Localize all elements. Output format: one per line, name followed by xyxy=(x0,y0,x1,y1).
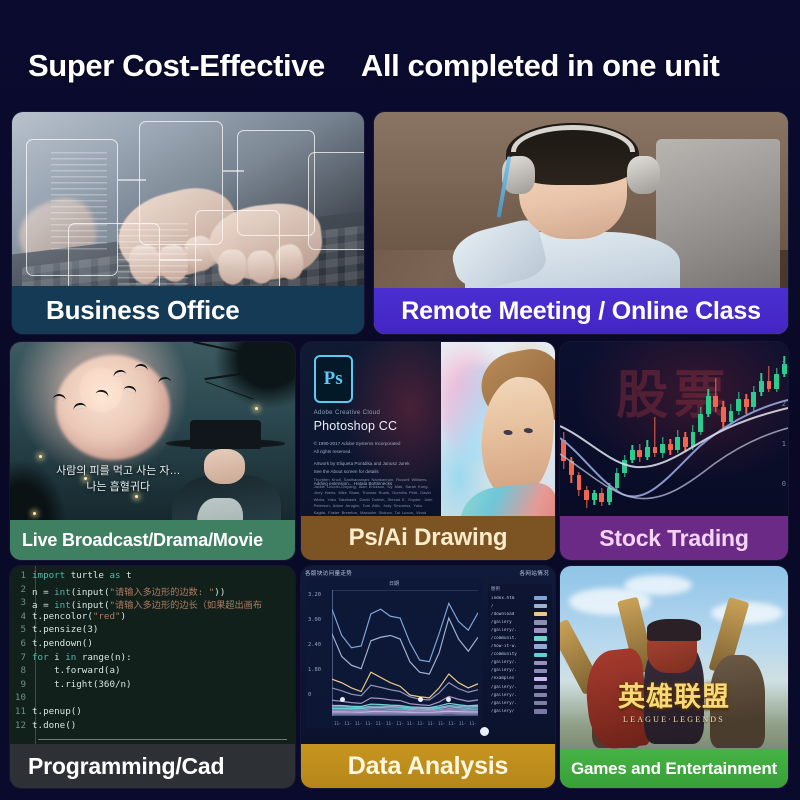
ui-connector xyxy=(223,170,244,172)
product-title: Photoshop CC xyxy=(314,419,398,433)
series-lines xyxy=(332,590,478,716)
legend-item[interactable]: /gallery/. xyxy=(488,691,552,699)
y-tick-label: 2.40 xyxy=(308,642,321,648)
ui-overlay-panel xyxy=(308,152,364,250)
legend-swatch xyxy=(534,636,547,640)
caption-live-broadcast: Live Broadcast/Drama/Movie xyxy=(10,520,295,560)
caption-label: Remote Meeting / Online Class xyxy=(401,297,761,326)
legend-swatch xyxy=(534,677,547,681)
dashboard-header-right: 各网站情况 xyxy=(520,569,549,577)
card-ps-ai-drawing[interactable]: Ps Adobe Creative Cloud Photoshop CC © 1… xyxy=(301,342,555,560)
code-line[interactable]: 12t.done() xyxy=(10,720,295,734)
x-tick-label: 11- xyxy=(417,721,425,726)
series-line xyxy=(332,618,478,674)
moving-average-lines xyxy=(560,342,788,522)
y-tick-label: 3.00 xyxy=(308,617,321,623)
line-number: 9 xyxy=(10,679,32,690)
x-tick-label: 11- xyxy=(386,721,394,726)
legend-item[interactable]: /gallery xyxy=(488,618,552,626)
copyright-line-2: All rights reserved. xyxy=(314,448,434,456)
headline-cost-effective: Super Cost-Effective xyxy=(28,48,325,84)
line-number: 6 xyxy=(10,638,32,649)
line-number: 4 xyxy=(10,611,32,622)
code-line[interactable]: 6t.pendown() xyxy=(10,638,295,652)
x-tick-label: 11- xyxy=(438,721,446,726)
headphone-cup-right xyxy=(627,156,660,194)
code-line[interactable]: 5t.pensize(3) xyxy=(10,624,295,638)
legend-label: /community xyxy=(491,652,531,657)
caption-stock-trading: Stock Trading xyxy=(560,516,788,560)
price-tick: 3 xyxy=(782,360,786,368)
artwork-line-1: Artwork by Eliqueta Pontdika and Janusz … xyxy=(314,460,434,468)
caption-business-office: Business Office xyxy=(12,286,364,334)
legend-item[interactable]: /gallery/. xyxy=(488,699,552,707)
legend-label: /examples xyxy=(491,676,531,681)
legend-item[interactable]: /gallery/. xyxy=(488,659,552,667)
legend-label: /communit. xyxy=(491,636,531,641)
ui-connector xyxy=(118,179,146,181)
legend-label: /gallery xyxy=(491,620,531,625)
price-tick: 0 xyxy=(782,480,786,488)
line-number: 3 xyxy=(10,597,32,608)
code-text: t.pendown() xyxy=(32,638,93,649)
photoshop-icon: Ps xyxy=(314,355,353,403)
legend-items: index.htm//download/gallery/gallery/./co… xyxy=(488,594,552,715)
y-tick-label: 0 xyxy=(308,692,311,698)
legend-swatch xyxy=(534,693,547,697)
firefly xyxy=(33,512,36,515)
legend-swatch xyxy=(534,701,547,705)
caption-label: Programming/Cad xyxy=(28,753,224,780)
legend-label: /gallery/. xyxy=(491,668,531,673)
promo-page: Super Cost-Effective All completed in on… xyxy=(0,0,800,800)
code-text: n = int(input("请输入多边形的边数: ")) xyxy=(32,584,225,598)
caption-label: Data Analysis xyxy=(348,752,508,781)
legend-item[interactable]: /communit. xyxy=(488,634,552,642)
y-tick-label: 3.20 xyxy=(308,592,321,598)
caption-label: Stock Trading xyxy=(599,525,748,552)
caption-label: Business Office xyxy=(46,295,240,326)
legend-label: /gallery/. xyxy=(491,660,531,665)
legend-item[interactable]: index.htm xyxy=(488,594,552,602)
x-tick-label: 11- xyxy=(334,721,342,726)
code-line[interactable]: 9 t.right(360/n) xyxy=(10,679,295,693)
chart-title: 日期 xyxy=(306,580,482,587)
logo-chinese: 英雄联盟 xyxy=(618,675,730,714)
data-point-marker xyxy=(418,697,423,702)
caption-programming: Programming/Cad xyxy=(10,744,295,788)
price-tick: 1 xyxy=(782,440,786,448)
line-number: 5 xyxy=(10,624,32,635)
caption-remote-meeting: Remote Meeting / Online Class xyxy=(374,288,788,334)
hero-hat xyxy=(647,619,702,641)
chart-legend: 图例 index.htm//download/gallery/gallery/.… xyxy=(488,584,552,726)
code-line[interactable]: 8 t.forward(a) xyxy=(10,665,295,679)
caption-label: Games and Entertainment xyxy=(571,759,777,779)
x-tick-label: 11- xyxy=(469,721,477,726)
legend-swatch xyxy=(534,685,547,689)
current-line-underline xyxy=(38,739,287,740)
line-number: 10 xyxy=(10,692,32,703)
legend-item[interactable]: /gallery/. xyxy=(488,667,552,675)
x-tick-label: 11- xyxy=(448,721,456,726)
legend-swatch xyxy=(534,620,547,624)
artwork-line-2: See the About screen for details xyxy=(314,468,434,476)
legend-item[interactable]: /gallery/. xyxy=(488,626,552,634)
card-programming[interactable]: 1import turtle as t2n = int(input("请输入多边… xyxy=(10,566,295,788)
legend-label: /gallery/. xyxy=(491,701,531,706)
card-business-office[interactable]: Business Office xyxy=(12,112,364,334)
legend-item[interactable]: / xyxy=(488,602,552,610)
legend-swatch xyxy=(534,596,547,600)
x-tick-label: 11- xyxy=(376,721,384,726)
legend-swatch xyxy=(534,709,547,713)
code-text: a = int(input("请输入多边形的边长（如果超出画布 xyxy=(32,597,262,611)
x-tick-label: 11- xyxy=(344,721,352,726)
caption-label: Ps/Ai Drawing xyxy=(349,524,508,552)
price-tick: 2 xyxy=(782,400,786,408)
game-logo: 英雄联盟 LEAGUE·LEGENDS xyxy=(585,670,763,728)
legend-item[interactable]: /download xyxy=(488,610,552,618)
line-chart: 日期 3.203.002.401.800 11-11-11-11-11-11-1… xyxy=(306,578,482,728)
legend-label: / xyxy=(491,604,531,609)
legend-swatch xyxy=(534,644,547,648)
character-face xyxy=(204,449,245,484)
scroll-dot xyxy=(480,727,489,736)
legend-label: /gallery/. xyxy=(491,685,531,690)
data-point-marker xyxy=(446,697,451,702)
code-overlay xyxy=(51,152,107,254)
line-number: 11 xyxy=(10,706,32,717)
gat-hat xyxy=(190,420,261,449)
card-games[interactable]: 英雄联盟 LEAGUE·LEGENDS Games and Entertainm… xyxy=(560,566,788,788)
line-number: 2 xyxy=(10,584,32,595)
code-text: t.penup() xyxy=(32,706,82,717)
card-stock-trading[interactable]: 股票 3210 1.9036 VOL:103K MA5:2.4K MA10:39… xyxy=(560,342,788,560)
x-tick-label: 11- xyxy=(396,721,404,726)
code-text: t.pensize(3) xyxy=(32,624,98,635)
caption-games: Games and Entertainment xyxy=(560,750,788,788)
x-tick-label: 11- xyxy=(355,721,363,726)
headline-one-unit: All completed in one unit xyxy=(361,48,720,84)
caption-data-analysis: Data Analysis xyxy=(301,744,555,788)
code-text: t.forward(a) xyxy=(32,665,121,676)
legend-title: 图例 xyxy=(491,586,552,592)
code-line[interactable]: 11t.penup() xyxy=(10,706,295,720)
legend-swatch xyxy=(534,604,547,608)
code-lines[interactable]: 1import turtle as t2n = int(input("请输入多边… xyxy=(10,570,295,742)
copyright-line-1: © 1990-2017 Adobe Systems Incorporated xyxy=(314,440,434,448)
y-tick-label: 1.80 xyxy=(308,667,321,673)
card-data-analysis[interactable]: 各版块访问量走势 各网站情况 日期 3.203.002.401.800 11-1… xyxy=(301,566,555,788)
cloud xyxy=(624,575,692,595)
code-text: import turtle as t xyxy=(32,570,132,581)
legend-label: /gallery/. xyxy=(491,628,531,633)
legend-item[interactable]: /gallery/. xyxy=(488,683,552,691)
code-line[interactable]: 3a = int(input("请输入多边形的边长（如果超出画布 xyxy=(10,597,295,611)
code-line[interactable]: 1import turtle as t xyxy=(10,570,295,584)
caption-ps-ai: Ps/Ai Drawing xyxy=(301,516,555,560)
x-tick-label: 11- xyxy=(428,721,436,726)
creative-cloud-label: Adobe Creative Cloud xyxy=(314,410,381,416)
caption-label: Live Broadcast/Drama/Movie xyxy=(22,530,263,551)
x-tick-label: 11- xyxy=(407,721,415,726)
line-number: 8 xyxy=(10,665,32,676)
legend-item[interactable]: /community xyxy=(488,651,552,659)
code-text: t.pencolor("red") xyxy=(32,611,126,622)
dashboard-header-left: 各版块访问量走势 xyxy=(305,569,352,577)
legend-swatch xyxy=(534,612,547,616)
legend-item[interactable]: /gallery/ xyxy=(488,707,552,715)
legend-swatch xyxy=(534,653,547,657)
subtitle-text: 사람의 피를 먹고 사는 자… 나는 흡혈귀다 xyxy=(27,464,209,496)
legend-swatch xyxy=(534,628,547,632)
subtitle-line-2: 나는 흡혈귀다 xyxy=(27,480,209,496)
line-number: 7 xyxy=(10,652,32,663)
legend-item[interactable]: /how-it-w. xyxy=(488,643,552,651)
code-text: t.done() xyxy=(32,720,76,731)
legend-label: /how-it-w. xyxy=(491,644,531,649)
legend-label: /gallery/. xyxy=(491,693,531,698)
card-live-broadcast[interactable]: 사람의 피를 먹고 사는 자… 나는 흡혈귀다 Live Broadcast/D… xyxy=(10,342,295,560)
legend-label: /gallery/ xyxy=(491,709,531,714)
line-number: 1 xyxy=(10,570,32,581)
subtitle-line-1: 사람의 피를 먹고 사는 자… xyxy=(27,464,209,480)
code-line[interactable]: 7for i in range(n): xyxy=(10,652,295,666)
legend-swatch xyxy=(534,669,547,673)
code-line[interactable]: 4t.pencolor("red") xyxy=(10,611,295,625)
line-number: 12 xyxy=(10,720,32,731)
card-remote-meeting[interactable]: Remote Meeting / Online Class xyxy=(374,112,788,334)
legend-label: index.htm xyxy=(491,596,531,601)
legend-item[interactable]: /examples xyxy=(488,675,552,683)
x-tick-label: 11- xyxy=(459,721,467,726)
legend-swatch xyxy=(534,661,547,665)
headline-row: Super Cost-Effective All completed in on… xyxy=(0,38,800,94)
code-line[interactable]: 10 xyxy=(10,692,295,706)
code-line[interactable]: 2n = int(input("请输入多边形的边数: ")) xyxy=(10,584,295,598)
code-text: t.right(360/n) xyxy=(32,679,132,690)
code-text: for i in range(n): xyxy=(32,652,132,663)
data-point-marker xyxy=(340,697,345,702)
legend-label: /download xyxy=(491,612,531,617)
x-tick-label: 11- xyxy=(365,721,373,726)
logo-english: LEAGUE·LEGENDS xyxy=(623,715,725,724)
